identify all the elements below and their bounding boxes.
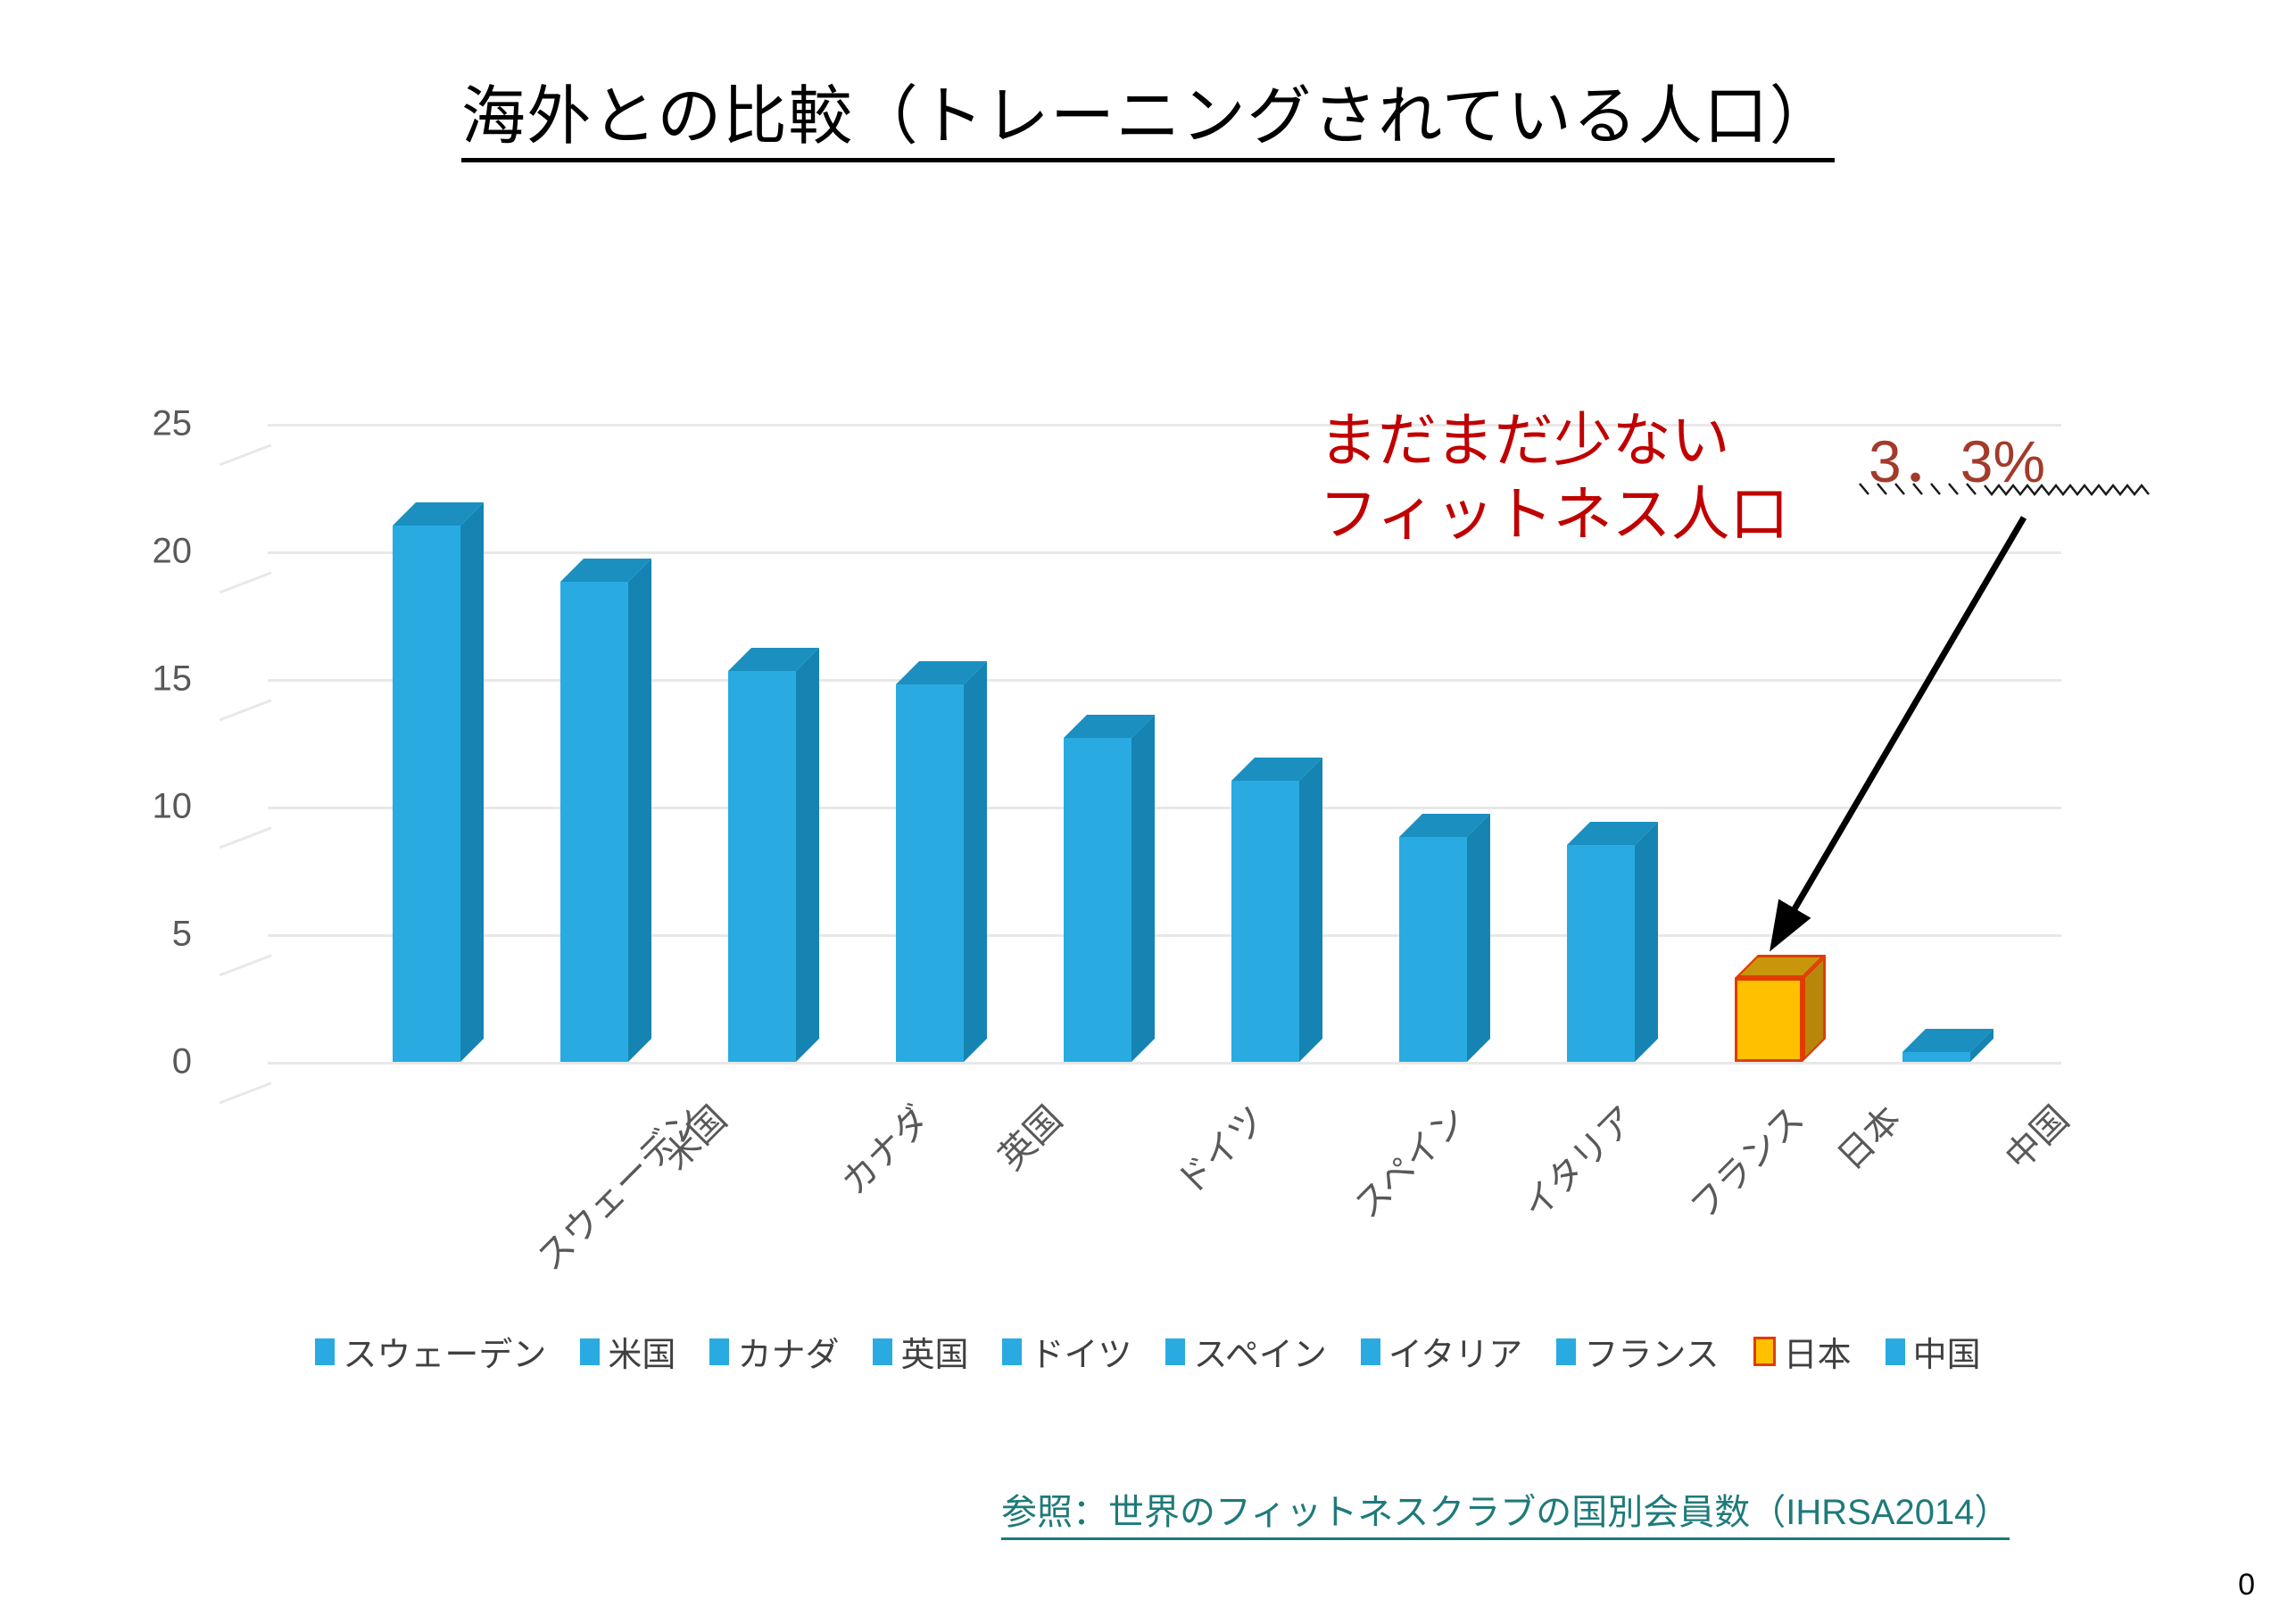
bar-front-face [1399,837,1467,1062]
legend-swatch-icon [873,1338,892,1365]
bar-front-face [560,582,628,1062]
chart-legend: スウェーデン米国カナダ英国ドイツスペインイタリアフランス日本中国 [0,1327,2296,1376]
callout-line-2: フィットネス人口 [1319,477,1789,551]
bar-series [268,357,2061,1124]
y-axis-tick-5: 5 [85,915,192,955]
legend-item-イタリア[interactable]: イタリア [1361,1327,1522,1376]
bar-スペイン [1231,781,1299,1062]
bar-front-face [1231,781,1299,1062]
legend-item-ドイツ[interactable]: ドイツ [1002,1327,1131,1376]
legend-swatch-icon [709,1338,729,1365]
legend-label: フランス [1584,1327,1719,1376]
page-title: 海外との比較（トレーニングされている人口） [0,77,2296,157]
bar-front-face [1567,845,1635,1062]
legend-item-スペイン[interactable]: スペイン [1165,1327,1326,1376]
bar-side-face [1467,814,1490,1062]
page-title-text: 海外との比較（トレーニングされている人口） [461,81,1835,162]
bar-中国 [1902,1052,1970,1062]
legend-swatch-icon [580,1338,600,1365]
bar-カナダ [728,671,796,1062]
legend-item-中国[interactable]: 中国 [1886,1327,1981,1376]
legend-item-米国[interactable]: 米国 [580,1327,676,1376]
legend-label: 日本 [1784,1327,1852,1376]
legend-item-日本[interactable]: 日本 [1753,1327,1852,1376]
bar-side-face [964,661,987,1062]
bar-side-face [1299,758,1322,1062]
bar-side-face [628,559,651,1062]
bar-日本 [1735,978,1803,1062]
bar-フランス [1567,845,1635,1062]
legend-swatch-icon [1556,1338,1576,1365]
legend-label: スウェーデン [343,1327,546,1376]
legend-swatch-icon [1165,1338,1185,1365]
legend-label: 米国 [608,1327,676,1376]
bar-米国 [560,582,628,1062]
bar-side-face [460,502,484,1062]
source-reference-link[interactable]: 参照：世界のフィットネスクラブの国別会員数（IHRSA2014） [1001,1483,2010,1540]
legend-label: カナダ [737,1327,839,1376]
bar-front-face [1902,1052,1970,1062]
bar-side-face [1131,715,1155,1062]
bar-front-face [1735,978,1803,1062]
legend-item-フランス[interactable]: フランス [1556,1327,1719,1376]
legend-label: 中国 [1913,1327,1981,1376]
bar-ドイツ [1064,738,1131,1062]
wavy-underline-icon [1858,480,2152,500]
bar-英国 [896,684,964,1062]
legend-item-英国[interactable]: 英国 [873,1327,968,1376]
legend-item-カナダ[interactable]: カナダ [709,1327,839,1376]
legend-item-スウェーデン[interactable]: スウェーデン [315,1327,546,1376]
y-axis-tick-10: 10 [85,787,192,827]
legend-label: ドイツ [1030,1327,1131,1376]
legend-swatch-icon [1002,1338,1022,1365]
bar-front-face [1064,738,1131,1062]
legend-swatch-icon [315,1338,335,1365]
legend-label: イタリア [1388,1327,1522,1376]
callout-line-1: まだまだ少ない [1319,403,1789,477]
legend-swatch-icon [1361,1338,1380,1365]
bar-front-face [393,526,460,1062]
callout-text: まだまだ少ない フィットネス人口 [1319,403,1789,551]
y-axis-tick-20: 20 [85,532,192,572]
page-number: 0 [2238,1568,2255,1603]
bar-スウェーデン [393,526,460,1062]
bar-side-face [796,648,819,1062]
legend-swatch-icon [1886,1338,1905,1365]
bar-front-face [896,684,964,1062]
y-axis: 0510152025 [0,357,192,1124]
bar-イタリア [1399,837,1467,1062]
legend-label: スペイン [1193,1327,1326,1376]
y-axis-tick-25: 25 [85,404,192,444]
bar-front-face [728,671,796,1062]
legend-swatch-icon [1753,1337,1776,1366]
bar-side-face [1635,822,1658,1062]
legend-label: 英国 [900,1327,968,1376]
y-axis-tick-0: 0 [85,1042,192,1082]
y-axis-tick-15: 15 [85,659,192,700]
chart-plot-area: スウェーデン米国カナダ英国ドイツスペインイタリアフランス日本中国 [268,357,2061,1124]
